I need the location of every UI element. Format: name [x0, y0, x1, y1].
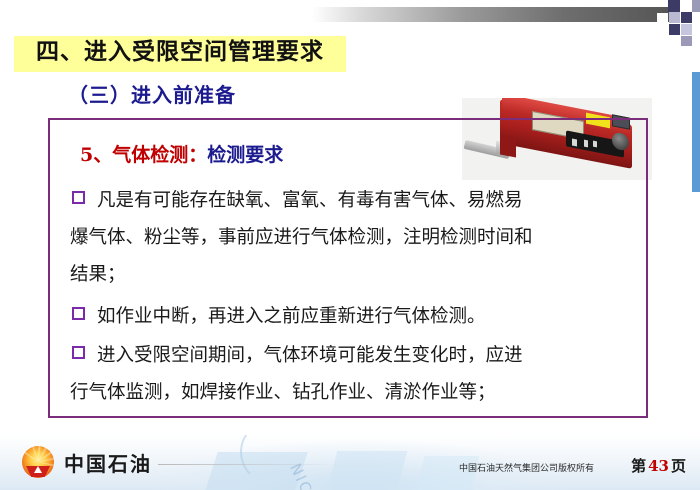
right-edge-accent-strip — [692, 72, 700, 192]
square-bullet-icon — [72, 307, 85, 320]
bullet-line-wrap: 结果； — [70, 256, 126, 293]
decor-square — [669, 24, 680, 35]
bullet-line-wrap: 爆气体、粉尘等，事前应进行气体检测，注明检测时间和 — [70, 219, 533, 256]
square-bullet-icon — [72, 346, 85, 359]
bullet-item: 如作业中断，再进入之前应重新进行气体检测。 — [72, 298, 486, 335]
bullet-line: 结果； — [70, 264, 126, 285]
decor-square — [692, 12, 700, 23]
page-suffix: 页 — [671, 457, 686, 475]
footer-divider — [158, 464, 338, 465]
content-heading: 5、气体检测：检测要求 — [80, 140, 283, 167]
page-prefix: 第 — [631, 457, 646, 475]
decor-square — [657, 13, 668, 24]
decor-square — [681, 24, 692, 35]
page-subtitle: （三）进入前准备 — [68, 79, 236, 108]
content-heading-red: 5、气体检测： — [80, 144, 207, 166]
slide-canvas: 四、进入受限空间管理要求 （三）进入前准备 5、气体检测：检测要求 凡是有可能存… — [0, 0, 700, 490]
page-number-value: 43 — [646, 457, 671, 475]
decor-square — [681, 0, 692, 11]
bullet-line: 行气体监测，如焊接作业、钻孔作业、清淤作业等； — [70, 382, 496, 403]
logo-wordmark: 中国石油 — [64, 448, 152, 477]
footer-page-number: 第43页 — [631, 455, 686, 476]
bullet-line: 进入受限空间期间，气体环境可能发生变化时，应进 — [97, 345, 523, 366]
page-title: 四、进入受限空间管理要求 — [36, 39, 324, 67]
header-gradient-bar — [312, 7, 672, 22]
bullet-line: 凡是有可能存在缺氧、富氧、有毒有害气体、易燃易 — [97, 190, 523, 211]
decor-square — [657, 25, 668, 35]
petrochina-logo: 中国石油 — [22, 446, 152, 478]
decor-square — [681, 12, 692, 23]
square-bullet-icon — [72, 191, 85, 204]
footer-decor-shape — [323, 451, 408, 490]
bullet-line: 爆气体、粉尘等，事前应进行气体检测，注明检测时间和 — [70, 227, 533, 248]
decor-square — [681, 36, 692, 46]
bullet-item: 凡是有可能存在缺氧、富氧、有毒有害气体、易燃易 — [72, 182, 523, 219]
petrochina-sun-icon — [22, 446, 54, 478]
slide-footer: NIC 中国石油 中国石油天然气集团公司版权所有 第43页 — [0, 435, 700, 490]
footer-copyright: 中国石油天然气集团公司版权所有 — [459, 461, 594, 474]
bullet-line: 如作业中断，再进入之前应重新进行气体检测。 — [97, 306, 486, 327]
bullet-line-wrap: 行气体监测，如焊接作业、钻孔作业、清淤作业等； — [70, 374, 496, 411]
decor-square — [669, 12, 680, 23]
decor-square — [692, 0, 700, 12]
content-heading-blue: 检测要求 — [207, 144, 283, 166]
decor-square — [668, 0, 680, 12]
bullet-item: 进入受限空间期间，气体环境可能发生变化时，应进 — [72, 337, 523, 374]
page-title-band: 四、进入受限空间管理要求 — [14, 36, 346, 72]
